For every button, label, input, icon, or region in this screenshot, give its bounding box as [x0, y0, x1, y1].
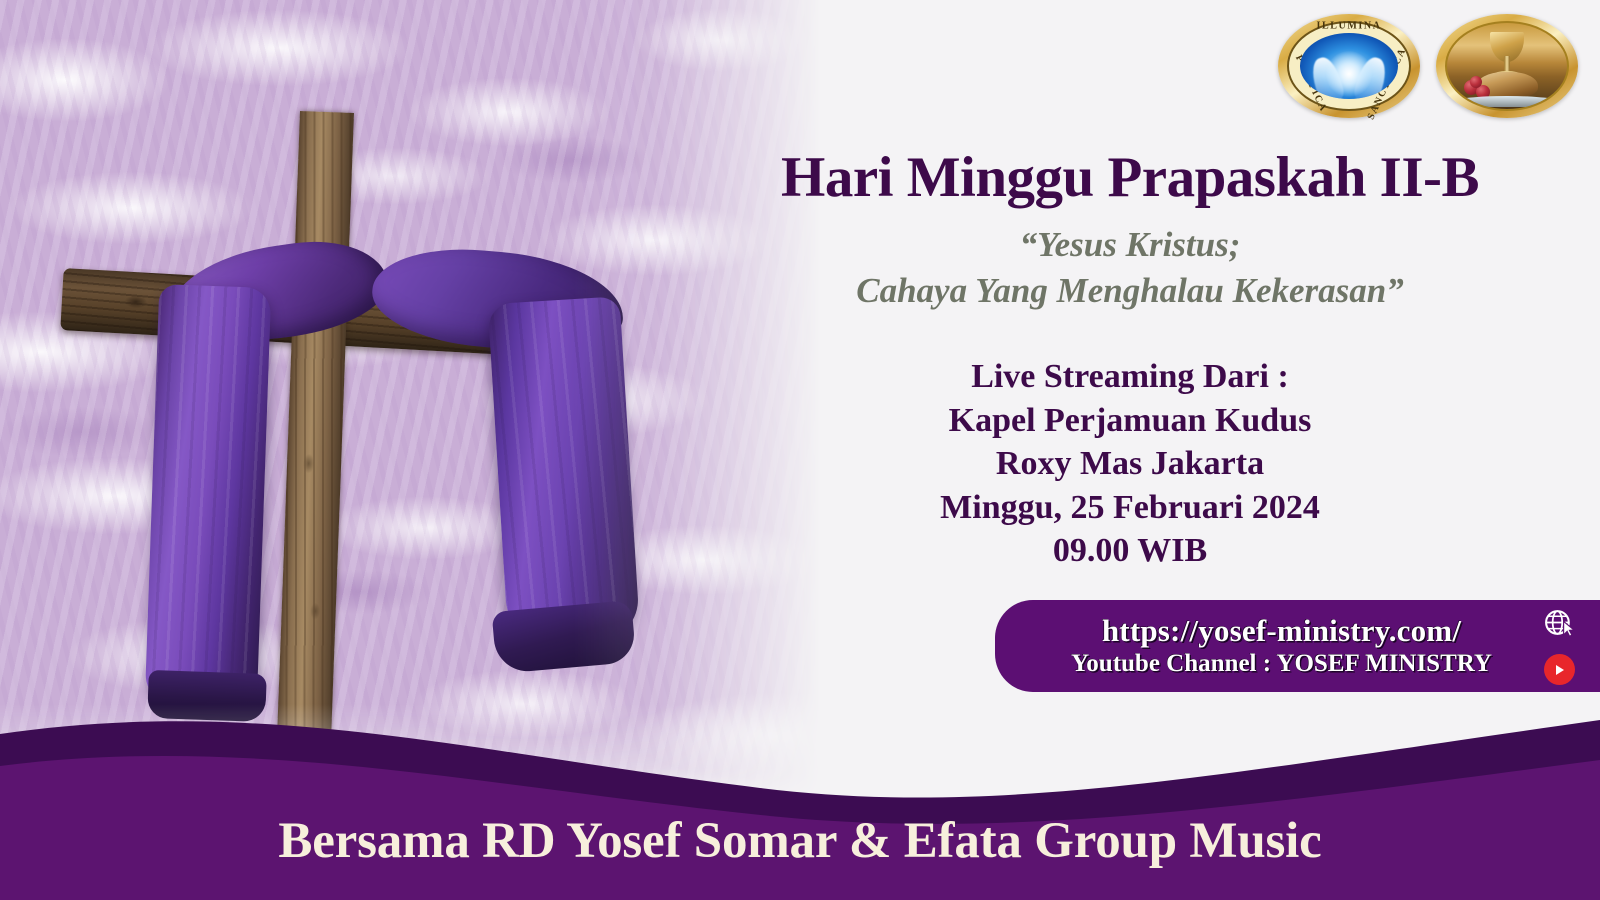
bottom-wave-banner: Bersama RD Yosef Somar & Efata Group Mus…	[0, 690, 1600, 900]
eucharist-chalice-emblem	[1436, 14, 1578, 118]
purple-drape-right	[488, 296, 641, 645]
detail-date: Minggu, 25 Februari 2024	[700, 486, 1560, 530]
illumina-purifica-sanctifica-emblem: ILLUMINA SANCTIFICA PURIFICA	[1278, 14, 1420, 118]
detail-venue-name: Kapel Perjamuan Kudus	[700, 399, 1560, 443]
youtube-play-icon[interactable]	[1544, 654, 1575, 685]
poster-root: ILLUMINA SANCTIFICA PURIFICA	[0, 0, 1600, 900]
grape-3	[1470, 76, 1482, 88]
links-banner-text: https://yosef-ministry.com/ Youtube Chan…	[995, 613, 1526, 680]
cross-photo	[0, 0, 820, 800]
globe-cursor-icon[interactable]	[1543, 607, 1576, 645]
subtitle-line-2: Cahaya Yang Menghalau Kekerasan”	[700, 268, 1560, 314]
altar-cloth	[1454, 96, 1560, 107]
poster-title: Hari Minggu Prapaskah II-B	[700, 148, 1560, 207]
detail-time: 09.00 WIB	[700, 529, 1560, 573]
footer-credit-text: Bersama RD Yosef Somar & Efata Group Mus…	[0, 812, 1600, 870]
chalice-bread-grapes-photo	[1445, 21, 1569, 111]
play-triangle	[1556, 665, 1564, 675]
ring-word-illumina: ILLUMINA	[1316, 21, 1381, 32]
glowing-hands-icon	[1300, 33, 1398, 99]
banner-icon-group	[1526, 607, 1600, 685]
website-url-link[interactable]: https://yosef-ministry.com/	[1037, 613, 1526, 650]
youtube-channel-label[interactable]: Youtube Channel : YOSEF MINISTRY	[1037, 649, 1526, 679]
detail-venue-city: Roxy Mas Jakarta	[700, 442, 1560, 486]
subtitle-line-1: “Yesus Kristus;	[700, 222, 1560, 268]
purple-drape-left	[145, 284, 272, 708]
emblem-group: ILLUMINA SANCTIFICA PURIFICA	[1278, 14, 1578, 118]
poster-subtitle: “Yesus Kristus; Cahaya Yang Menghalau Ke…	[700, 222, 1560, 314]
sky-texture-overlay	[0, 0, 820, 800]
event-details: Live Streaming Dari : Kapel Perjamuan Ku…	[700, 355, 1560, 573]
detail-live-streaming: Live Streaming Dari :	[700, 355, 1560, 399]
links-banner[interactable]: https://yosef-ministry.com/ Youtube Chan…	[995, 600, 1600, 692]
